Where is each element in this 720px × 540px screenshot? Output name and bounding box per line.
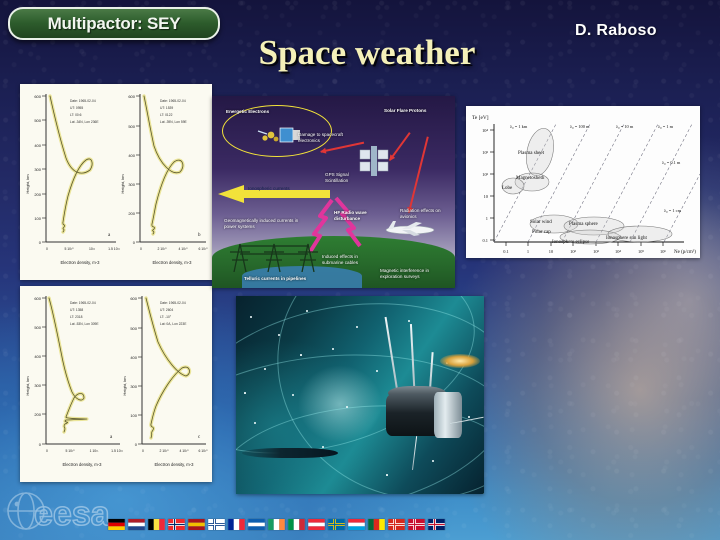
flag-austria <box>308 519 325 530</box>
star <box>332 348 334 350</box>
svg-text:Polar cap: Polar cap <box>532 230 551 235</box>
svg-text:100: 100 <box>130 413 137 418</box>
svg-text:10⁴: 10⁴ <box>482 128 488 133</box>
star <box>278 334 280 336</box>
svg-text:4 10¹⁰: 4 10¹⁰ <box>179 449 189 453</box>
ionosphere-top-svg: 600500400 300200100 0 Height, km a Date:… <box>20 84 212 280</box>
label-energetic-electrons: Energetic Electrons <box>226 109 306 115</box>
label-gps-scintillation: GPS Signal Scintillation <box>325 172 365 183</box>
label-solar-flare-protons: Solar Flare Protons <box>384 108 454 114</box>
svg-text:300: 300 <box>128 182 135 187</box>
flag-netherlands <box>128 519 145 530</box>
svg-text:4 10¹⁰: 4 10¹⁰ <box>178 247 188 251</box>
svg-text:Plasma sheet: Plasma sheet <box>518 151 545 156</box>
svg-text:200: 200 <box>34 192 41 197</box>
author-name: D. Raboso <box>575 22 657 40</box>
svg-text:Lat -34N, Lon 236E: Lat -34N, Lon 236E <box>70 120 99 124</box>
svg-text:500: 500 <box>130 326 137 331</box>
plasma-regime-svg: 10⁴10³10² 1010.1 Te [eV] 0.1110 10²10³10… <box>466 106 700 258</box>
svg-text:UT: 0955: UT: 0955 <box>70 106 83 110</box>
star <box>250 316 252 318</box>
star <box>322 446 324 448</box>
svg-text:600: 600 <box>34 94 41 99</box>
svg-text:1.5 10¹¹: 1.5 10¹¹ <box>111 449 124 453</box>
svg-text:2 10¹⁰: 2 10¹⁰ <box>157 247 167 251</box>
satellite-icon-small <box>256 122 302 148</box>
star <box>408 320 410 322</box>
svg-text:UT: 1358: UT: 1358 <box>70 308 83 312</box>
svg-text:100: 100 <box>34 216 41 221</box>
svg-text:Electron density, m-3: Electron density, m-3 <box>152 260 192 265</box>
svg-text:500: 500 <box>34 325 41 330</box>
label-magnetic-interference: Magnetic interference in exploration sur… <box>380 268 450 279</box>
svg-text:10²: 10² <box>482 172 488 177</box>
flag-italy <box>288 519 305 530</box>
svg-text:Date: 1965-02-04: Date: 1965-02-04 <box>160 99 186 103</box>
svg-text:Lobe: Lobe <box>502 186 513 191</box>
svg-text:Date: 1965-02-04: Date: 1965-02-04 <box>70 301 96 305</box>
svg-text:600: 600 <box>128 94 135 99</box>
flag-greece <box>248 519 265 530</box>
label-radiation-avionics: Radiation effects on avionics <box>400 208 452 219</box>
flag-finland <box>208 519 225 530</box>
flag-uk <box>428 519 445 530</box>
star <box>292 394 294 396</box>
svg-text:10³: 10³ <box>593 249 599 254</box>
svg-text:1: 1 <box>486 216 488 221</box>
svg-text:Solar wind: Solar wind <box>530 220 552 225</box>
submarine-silhouette <box>242 448 338 458</box>
svg-text:300: 300 <box>34 167 41 172</box>
svg-text:500: 500 <box>128 124 135 129</box>
label-ionospheric-currents: Ionospheric currents <box>248 186 322 192</box>
svg-text:10¹¹: 10¹¹ <box>89 247 96 251</box>
power-pylon-icon <box>224 238 336 272</box>
star <box>356 326 358 328</box>
satellite-cylinder <box>434 392 462 438</box>
svg-text:LT: 00:6: LT: 00:6 <box>70 113 82 117</box>
svg-text:0.1: 0.1 <box>503 249 509 254</box>
flag-germany <box>108 519 125 530</box>
member-state-flag-strip <box>108 516 445 532</box>
svg-text:400: 400 <box>128 153 135 158</box>
svg-text:1: 1 <box>527 249 529 254</box>
label-submarine-cables: Induced effects in submarine cables <box>322 254 380 265</box>
svg-text:Lat -39N, Lon 59E: Lat -39N, Lon 59E <box>160 120 188 124</box>
star <box>376 370 378 372</box>
svg-text:λ₀ = 1 m: λ₀ = 1 m <box>658 124 674 129</box>
svg-text:λ₀ = 100 m: λ₀ = 100 m <box>570 124 590 129</box>
svg-text:Plasma sphere: Plasma sphere <box>569 222 599 227</box>
label-hf-radio: HF Radio wave disturbance <box>334 210 378 221</box>
ionosphere-profile-figure-bottom: 600500400 3002000 Height, km a Date: 196… <box>20 286 212 482</box>
svg-text:Height, km: Height, km <box>120 174 125 194</box>
svg-text:LT: 2318: LT: 2318 <box>70 315 83 319</box>
svg-text:400: 400 <box>34 143 41 148</box>
svg-text:λ₀ = 1 km: λ₀ = 1 km <box>510 124 528 129</box>
star <box>306 310 308 312</box>
svg-text:0: 0 <box>46 449 48 453</box>
svg-text:400: 400 <box>34 354 41 359</box>
label-spacecraft-damage: Damage to spacecraft electronics <box>298 132 356 143</box>
label-telluric-pipelines: Telluric currents in pipelines <box>244 276 334 282</box>
svg-text:0: 0 <box>140 247 142 251</box>
section-badge: Multipactor: SEY <box>8 7 220 40</box>
svg-text:Lat: 0A, Lon 223E: Lat: 0A, Lon 223E <box>160 322 187 326</box>
svg-text:200: 200 <box>34 412 41 417</box>
solar-flare-glow <box>440 354 480 368</box>
space-weather-effects-diagram: Energetic Electrons Solar Flare Protons … <box>212 96 455 288</box>
svg-text:Lat -53N, Lon 309E: Lat -53N, Lon 309E <box>70 322 99 326</box>
flag-portugal <box>368 519 385 530</box>
svg-text:Electron density, m-3: Electron density, m-3 <box>60 260 100 265</box>
svg-text:LT: 0122: LT: 0122 <box>160 113 173 117</box>
svg-text:600: 600 <box>34 296 41 301</box>
star <box>264 368 266 370</box>
star <box>468 416 470 418</box>
ionosphere-bottom-svg: 600500400 3002000 Height, km a Date: 196… <box>20 286 212 482</box>
svg-text:10⁶: 10⁶ <box>660 249 666 254</box>
svg-text:500: 500 <box>34 118 41 123</box>
svg-text:200: 200 <box>128 211 135 216</box>
flag-switzerland <box>388 519 405 530</box>
star <box>386 474 388 476</box>
svg-text:300: 300 <box>34 383 41 388</box>
flag-luxembourg <box>348 519 365 530</box>
svg-text:λ₀ = 1 cm: λ₀ = 1 cm <box>664 208 682 213</box>
svg-text:λ₀ = 10 m: λ₀ = 10 m <box>616 124 634 129</box>
svg-text:Electron density, m-3: Electron density, m-3 <box>62 462 102 467</box>
debye-ylabel: Te [eV] <box>472 115 489 121</box>
airplane-icon <box>384 218 436 240</box>
flag-ireland <box>268 519 285 530</box>
svg-text:Height, km: Height, km <box>25 174 30 194</box>
svg-text:6 10¹⁰: 6 10¹⁰ <box>198 449 208 453</box>
magnetosphere-satellite-image <box>236 296 484 494</box>
svg-text:Electron density, m-3: Electron density, m-3 <box>154 462 194 467</box>
svg-text:Magnetosheth: Magnetosheth <box>516 176 545 181</box>
svg-text:UT: 1539: UT: 1539 <box>160 106 173 110</box>
section-badge-label: Multipactor: SEY <box>48 14 181 34</box>
svg-text:λ₀ = 0.1 m: λ₀ = 0.1 m <box>662 160 681 165</box>
page-title: Space weather <box>232 33 502 73</box>
svg-text:2 10¹⁰: 2 10¹⁰ <box>159 449 169 453</box>
svg-text:1 10¹¹: 1 10¹¹ <box>90 449 100 453</box>
ionosphere-profile-figure-top: 600500400 300200100 0 Height, km a Date:… <box>20 84 212 280</box>
star <box>432 460 434 462</box>
plasma-regime-chart: 10⁴10³10² 1010.1 Te [eV] 0.1110 10²10³10… <box>466 106 700 258</box>
svg-text:0: 0 <box>46 247 48 251</box>
svg-text:LT: -10°: LT: -10° <box>160 315 172 319</box>
star <box>244 392 246 394</box>
flag-spain <box>188 519 205 530</box>
flag-france <box>228 519 245 530</box>
label-power-systems: Geomagnetically induced currents in powe… <box>224 218 302 229</box>
star <box>300 354 302 356</box>
svg-text:Height, km: Height, km <box>25 376 30 396</box>
svg-text:Date: 1965-02-04: Date: 1965-02-04 <box>70 99 96 103</box>
svg-text:5 10¹⁰: 5 10¹⁰ <box>64 247 74 251</box>
svg-text:0.1: 0.1 <box>483 238 489 243</box>
svg-text:10⁵: 10⁵ <box>638 249 644 254</box>
flag-denmark <box>408 519 425 530</box>
slide-canvas: Multipactor: SEY Space weather D. Raboso… <box>0 0 720 540</box>
svg-text:600: 600 <box>130 296 137 301</box>
esa-logo-wordmark: eesa <box>34 495 111 533</box>
svg-text:10⁴: 10⁴ <box>615 249 621 254</box>
svg-text:400: 400 <box>130 355 137 360</box>
svg-text:Height, km: Height, km <box>122 376 127 396</box>
flag-norway <box>168 519 185 530</box>
svg-text:Date: 1965-02-04: Date: 1965-02-04 <box>160 301 186 305</box>
svg-text:6 10¹⁰: 6 10¹⁰ <box>198 247 208 251</box>
star <box>346 406 348 408</box>
svg-text:1.5 10¹¹: 1.5 10¹¹ <box>108 247 121 251</box>
svg-text:300: 300 <box>130 384 137 389</box>
svg-text:Ionosphere eclipse: Ionosphere eclipse <box>552 240 590 245</box>
svg-text:Ionosphere sun light: Ionosphere sun light <box>606 236 647 241</box>
svg-text:0: 0 <box>142 449 144 453</box>
debye-xlabel: Ne (p/cm³) <box>674 249 696 255</box>
svg-text:10²: 10² <box>570 249 576 254</box>
flag-sweden <box>328 519 345 530</box>
svg-text:UT: 2604: UT: 2604 <box>160 308 173 312</box>
svg-text:5 10¹⁰: 5 10¹⁰ <box>65 449 75 453</box>
svg-text:10³: 10³ <box>482 150 488 155</box>
star <box>254 422 256 424</box>
flag-belgium <box>148 519 165 530</box>
